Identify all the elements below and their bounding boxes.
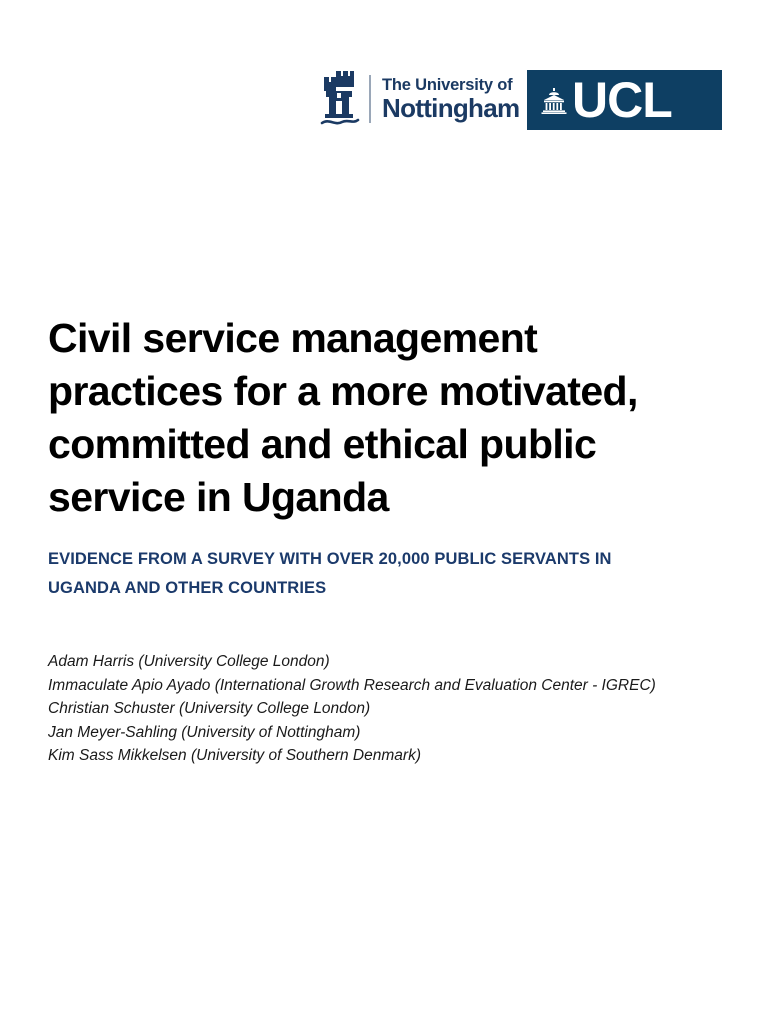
page-subtitle: EVIDENCE FROM A SURVEY WITH OVER 20,000 … xyxy=(48,545,668,603)
nottingham-wordmark: The University of Nottingham xyxy=(382,77,519,122)
nottingham-wordmark-line1: The University of xyxy=(382,77,519,94)
author-line: Adam Harris (University College London) xyxy=(48,650,688,674)
author-list: Adam Harris (University College London) … xyxy=(48,650,688,768)
ucl-logo: UCL xyxy=(527,70,722,130)
author-line: Jan Meyer-Sahling (University of Notting… xyxy=(48,721,688,745)
author-line: Immaculate Apio Ayado (International Gro… xyxy=(48,674,688,698)
portico-building-icon xyxy=(541,88,567,114)
logo-divider-rule xyxy=(369,75,371,123)
author-line: Kim Sass Mikkelsen (University of Southe… xyxy=(48,744,688,768)
castle-tower-icon xyxy=(320,69,360,129)
nottingham-wordmark-line2: Nottingham xyxy=(382,95,519,121)
page-title: Civil service management practices for a… xyxy=(48,312,708,524)
document-page: The University of Nottingham xyxy=(0,0,770,1024)
university-of-nottingham-logo: The University of Nottingham xyxy=(320,68,519,130)
ucl-letters: UCL xyxy=(572,75,672,125)
title-block: Civil service management practices for a… xyxy=(48,312,708,524)
logo-band: The University of Nottingham xyxy=(0,62,770,138)
author-line: Christian Schuster (University College L… xyxy=(48,697,688,721)
